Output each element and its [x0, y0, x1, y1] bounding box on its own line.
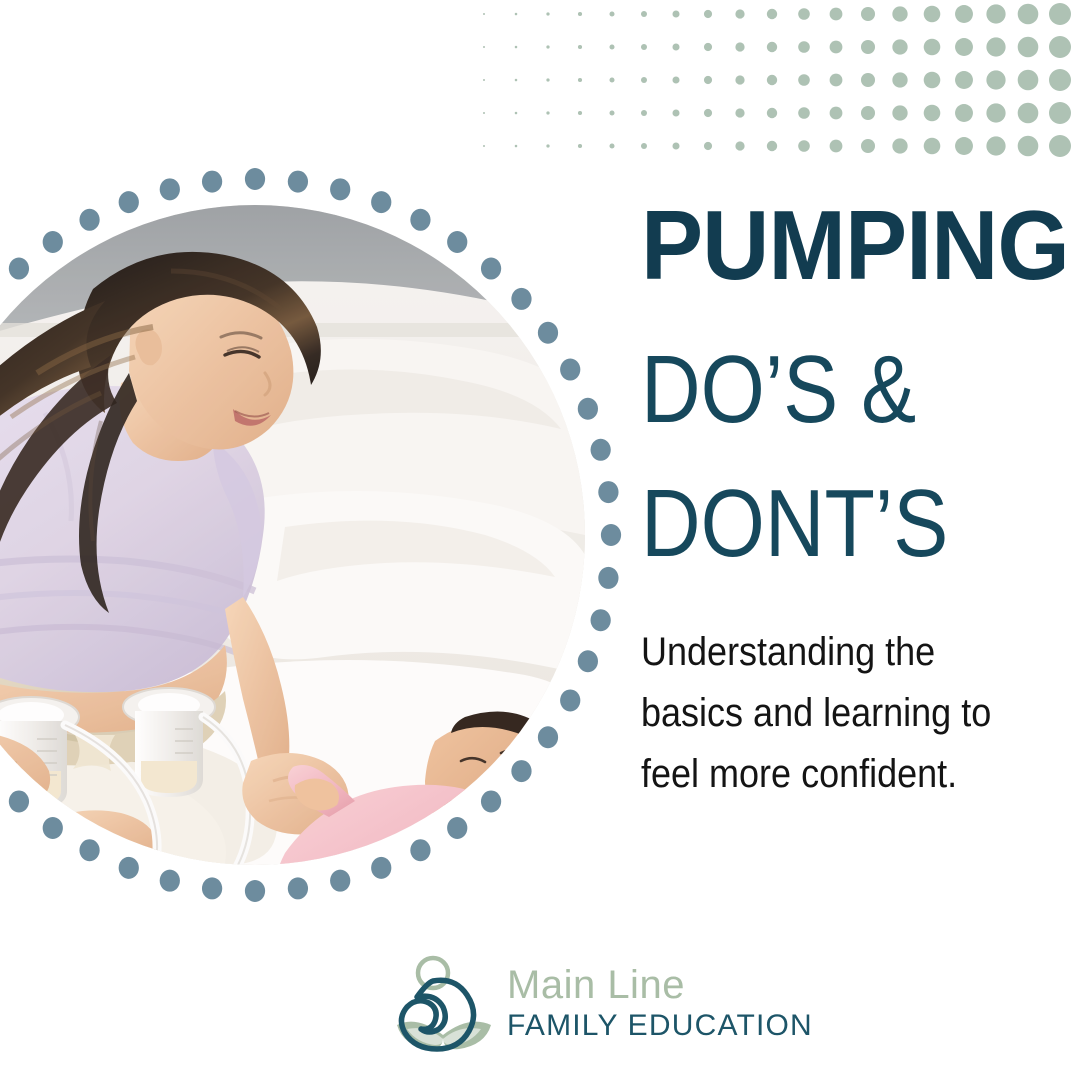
social-post-canvas: PUMPING DO’S & DONT’S Understanding the … — [0, 0, 1080, 1080]
subtitle-text: Understanding the basics and learning to… — [641, 622, 1028, 804]
brand-name-secondary: FAMILY EDUCATION — [507, 1009, 813, 1042]
brand-name-primary: Main Line — [507, 964, 813, 1006]
headline-line-1: PUMPING — [641, 198, 1040, 292]
mother-and-child-lotus-icon — [393, 951, 497, 1055]
headline-line-2: DO’S & — [641, 342, 1002, 438]
headline-line-3: DONT’S — [641, 476, 1002, 572]
halftone-dot-gradient — [468, 0, 1080, 165]
mother-pumping-with-baby-photo — [0, 205, 585, 865]
brand-wordmark: Main Line FAMILY EDUCATION — [507, 964, 813, 1042]
headline-block: PUMPING DO’S & DONT’S Understanding the … — [641, 198, 1061, 804]
brand-logo: Main Line FAMILY EDUCATION — [393, 950, 813, 1055]
